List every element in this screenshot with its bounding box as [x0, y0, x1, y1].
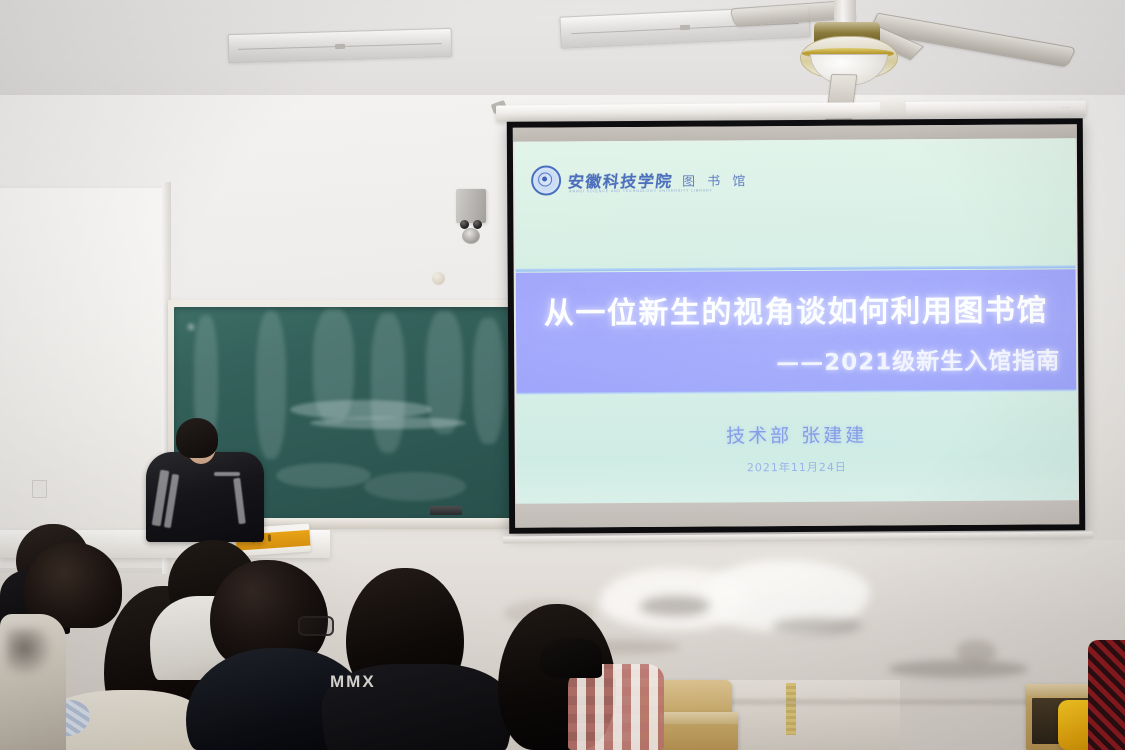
ledge-stripe: [786, 683, 796, 735]
slide-presenter: 技术部 张建建: [517, 419, 1077, 449]
classroom-photo-scene: ····· 安徽科技学院 图 书 馆 ANHUI SCIENCE AND TEC…: [0, 0, 1125, 750]
slide-title: 从一位新生的视角谈如何利用图书馆: [516, 285, 1076, 332]
left-door-panel: [0, 188, 165, 571]
chalk-smudge: [473, 318, 504, 445]
light-nub: [335, 44, 345, 49]
wall-switch-icon[interactable]: [32, 480, 47, 498]
slide-upper-panel: [515, 138, 1076, 272]
wooden-desk: [660, 712, 738, 750]
screen-surface: 安徽科技学院 图 书 馆 ANHUI SCIENCE AND TECHNOLOG…: [513, 124, 1079, 527]
eyeglasses-icon: [298, 616, 334, 636]
chalk-streak: [276, 463, 371, 488]
blackboard-eraser: [430, 506, 462, 515]
logo-institution-en: ANHUI SCIENCE AND TECHNOLOGY UNIVERSITY …: [569, 189, 713, 194]
logo-department-cn: 图 书 馆: [682, 170, 749, 189]
chalk-dot: [188, 324, 195, 330]
wall-knob: [432, 272, 445, 285]
jacket-collar: [214, 472, 240, 476]
wall-stain: [888, 660, 1028, 678]
screen-mount-bracket: [879, 95, 906, 120]
student-plaid-hair: [540, 638, 602, 678]
chalk-streak: [364, 472, 466, 502]
housing-brand-label: ·····: [1061, 105, 1070, 110]
presenter-hair: [176, 418, 218, 458]
light-nub: [680, 25, 690, 30]
ceiling-fan-icon: [742, 0, 1082, 113]
slide-logo: 安徽科技学院 图 书 馆 ANHUI SCIENCE AND TECHNOLOG…: [531, 164, 749, 195]
wall-stain: [640, 596, 710, 616]
student-far-right: [1088, 640, 1125, 750]
chair-shadow: [6, 628, 52, 678]
chalk-smudge: [426, 311, 463, 433]
presentation-slide: 安徽科技学院 图 书 馆 ANHUI SCIENCE AND TECHNOLOG…: [515, 138, 1077, 503]
device-body: [456, 189, 486, 223]
slide-subtitle: ——2021级新生入馆指南: [776, 341, 1060, 377]
slide-date: 2021年11月24日: [517, 457, 1077, 476]
slide-bottom-margin: [515, 500, 1079, 527]
wall-stain: [772, 618, 862, 634]
chalk-smudge: [371, 313, 405, 452]
jacket-text-graphic: MMX: [330, 672, 440, 692]
chalk-streak: [290, 400, 433, 419]
desk-surface: [660, 712, 738, 724]
chalk-smudge: [256, 311, 287, 459]
dome-sensor-icon: [462, 228, 480, 244]
wall-stain: [956, 640, 996, 664]
library-seal-icon: [531, 165, 561, 195]
wall-speaker-camera: [456, 189, 486, 241]
projection-screen[interactable]: 安徽科技学院 图 书 馆 ANHUI SCIENCE AND TECHNOLOG…: [507, 118, 1086, 534]
